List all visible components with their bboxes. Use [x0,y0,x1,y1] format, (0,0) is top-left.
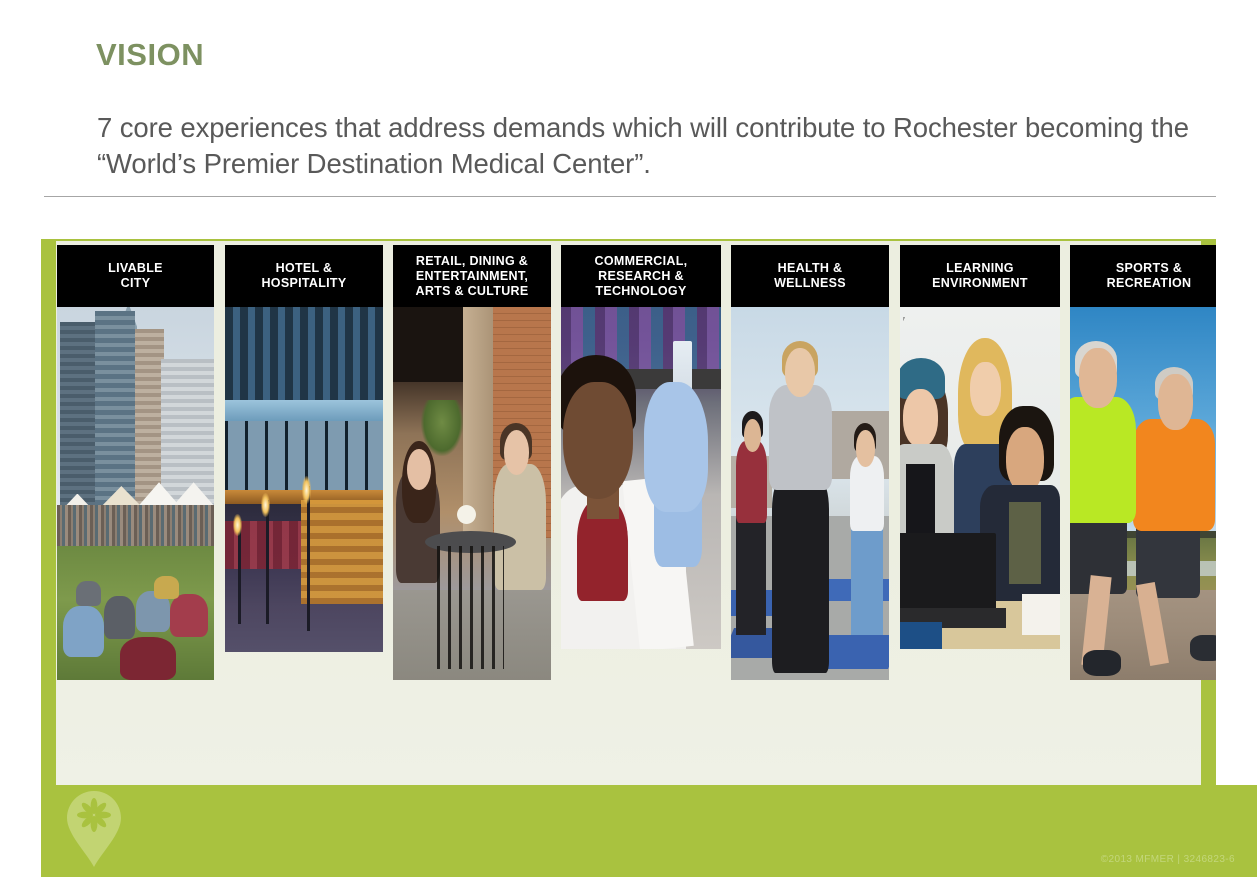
column-label-line: RECREATION [1107,276,1192,290]
column-header-livable-city: LIVABLE CITY [57,245,214,307]
column-header-commercial-research: COMMERCIAL, RESEARCH & TECHNOLOGY [561,245,721,307]
column-photo-retail-dining [393,307,551,680]
experience-column-retail-dining[interactable]: RETAIL, DINING & ENTERTAINMENT, ARTS & C… [393,245,551,680]
column-label-line: HEALTH & [778,261,843,275]
panel-top-edge [41,239,1216,241]
panel-left-edge [41,239,56,785]
column-photo-hotel-hospitality [225,307,383,652]
footer-bar [41,785,1257,877]
experience-column-health-wellness[interactable]: HEALTH & WELLNESS [731,245,889,680]
column-label-line: COMMERCIAL, [595,254,688,268]
experiences-panel: LIVABLE CITY [41,239,1216,785]
experience-column-learning-environment[interactable]: LEARNING ENVIRONMENT [900,245,1060,649]
column-header-health-wellness: HEALTH & WELLNESS [731,245,889,307]
slide-subtitle: 7 core experiences that address demands … [97,110,1222,182]
column-label-line: LIVABLE [108,261,163,275]
column-label-line: ENTERTAINMENT, [416,269,528,283]
column-label-line: RESEARCH & [598,269,684,283]
column-label-line: ARTS & CULTURE [416,284,529,298]
column-label-line: HOSPITALITY [261,276,346,290]
destination-medical-center-pin-logo [66,790,122,868]
column-header-sports-recreation: SPORTS & RECREATION [1070,245,1216,307]
copyright-text: ©2013 MFMER | 3246823-6 [1101,854,1235,865]
column-label-line: SPORTS & [1116,261,1182,275]
experience-column-hotel-hospitality[interactable]: HOTEL & HOSPITALITY [225,245,383,652]
column-label-line: LEARNING [946,261,1014,275]
experience-column-livable-city[interactable]: LIVABLE CITY [57,245,214,680]
column-header-retail-dining: RETAIL, DINING & ENTERTAINMENT, ARTS & C… [393,245,551,307]
page-title: VISION [96,38,204,72]
title-divider [44,196,1216,197]
column-label-line: TECHNOLOGY [595,284,686,298]
column-photo-commercial-research [561,307,721,649]
column-label-line: CITY [121,276,151,290]
column-photo-livable-city [57,307,214,680]
column-header-learning-environment: LEARNING ENVIRONMENT [900,245,1060,307]
column-photo-learning-environment [900,307,1060,649]
column-label-line: ENVIRONMENT [932,276,1028,290]
column-label-line: RETAIL, DINING & [416,254,528,268]
experience-column-commercial-research[interactable]: COMMERCIAL, RESEARCH & TECHNOLOGY [561,245,721,649]
column-label-line: HOTEL & [276,261,333,275]
column-label-line: WELLNESS [774,276,846,290]
column-photo-sports-recreation [1070,307,1216,680]
experience-column-sports-recreation[interactable]: SPORTS & RECREATION [1070,245,1216,680]
column-header-hotel-hospitality: HOTEL & HOSPITALITY [225,245,383,307]
column-photo-health-wellness [731,307,889,680]
